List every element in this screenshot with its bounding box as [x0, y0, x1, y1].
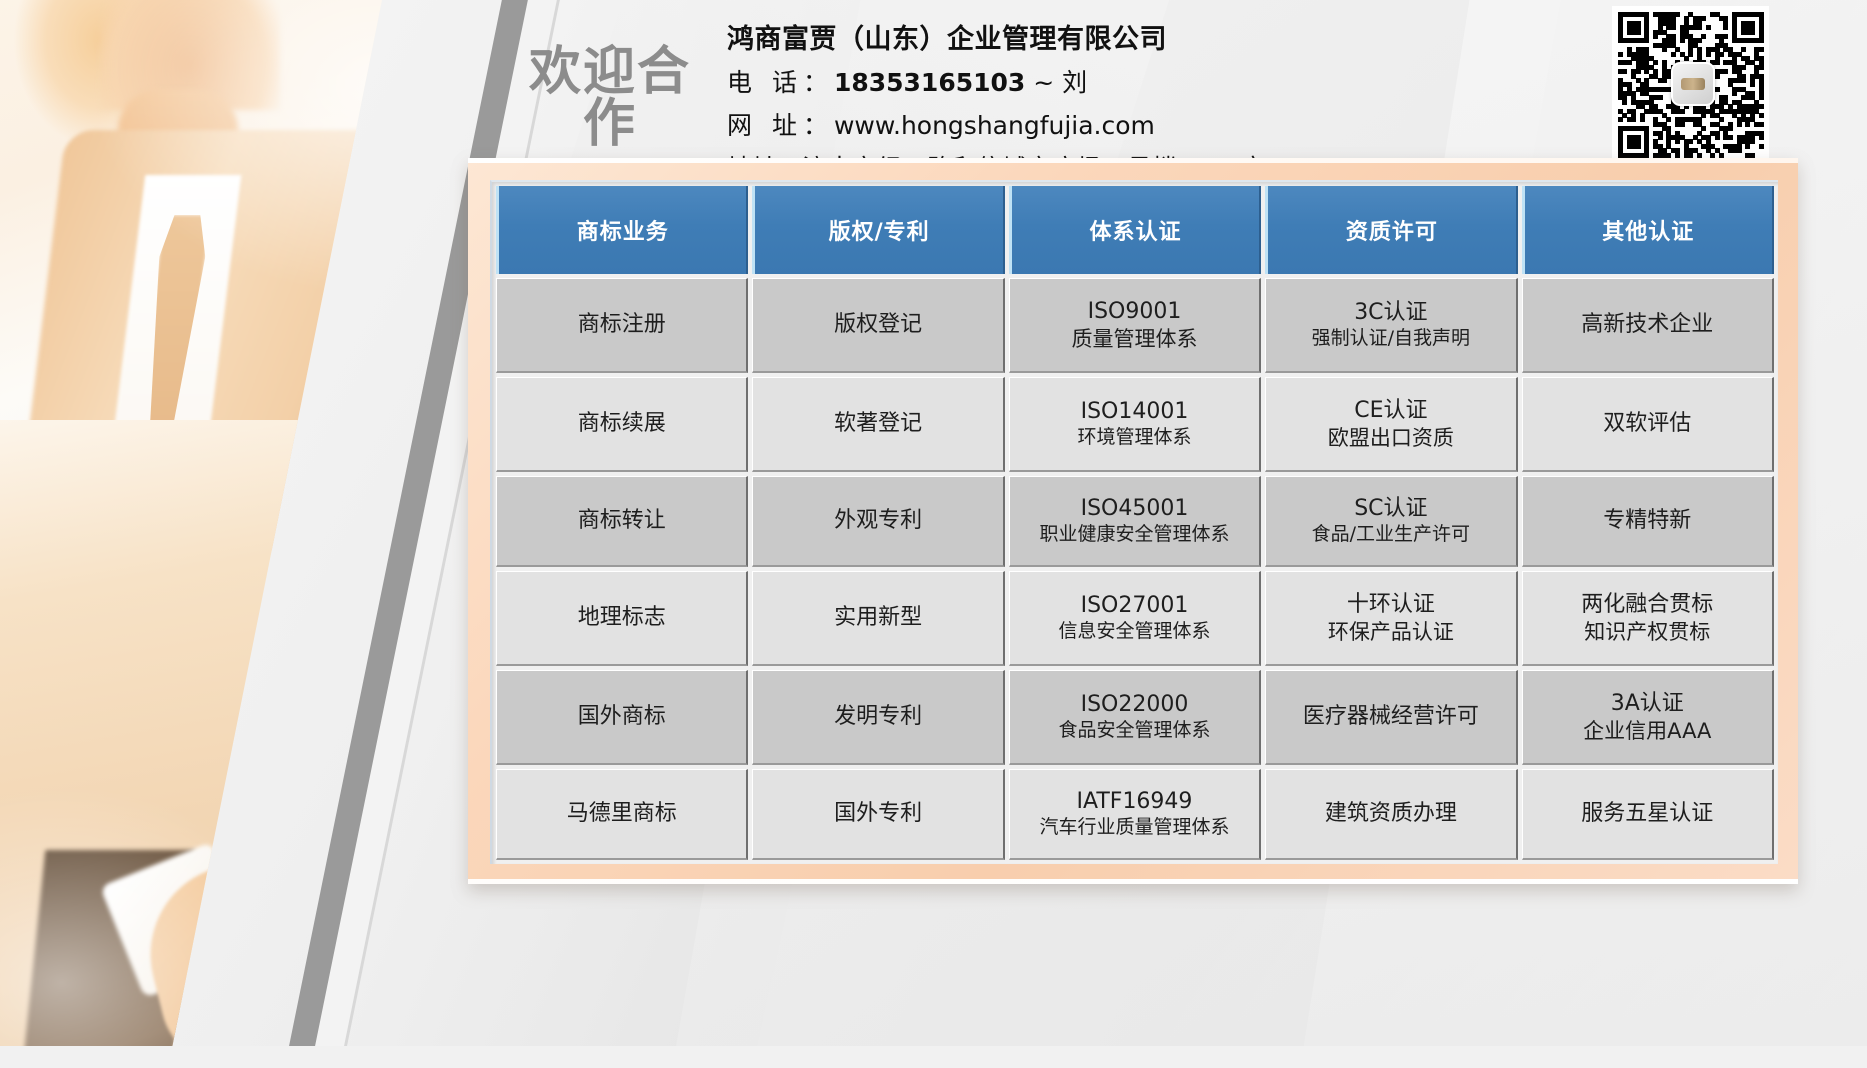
- cell-title: ISO14001: [1081, 399, 1189, 424]
- cell-title: 建筑资质办理: [1325, 801, 1457, 826]
- cell-subtitle: 知识产权贯标: [1524, 619, 1771, 645]
- services-table: 商标业务 版权/专利 体系认证 资质许可 其他认证 商标注册版权登记ISO900…: [492, 182, 1778, 864]
- cell-title: 医疗器械经营许可: [1303, 704, 1479, 729]
- cell-title: 商标续展: [578, 411, 666, 436]
- services-table-frame: 商标业务 版权/专利 体系认证 资质许可 其他认证 商标注册版权登记ISO900…: [468, 158, 1798, 884]
- cell-title: 外观专利: [834, 508, 922, 533]
- cell-title: 3C认证: [1354, 300, 1427, 325]
- cell-subtitle: 企业信用AAA: [1524, 718, 1771, 744]
- cell-copyright-3: 外观专利: [752, 476, 1004, 567]
- cell-title: 发明专利: [834, 704, 922, 729]
- column-header-qualification-license: 资质许可: [1265, 186, 1517, 274]
- cell-title: 商标注册: [578, 312, 666, 337]
- cell-trademark-2: 商标续展: [496, 377, 748, 472]
- cell-other-5: 3A认证企业信用AAA: [1522, 670, 1774, 765]
- cell-qualification-5: 医疗器械经营许可: [1265, 670, 1517, 765]
- cell-title: 双软评估: [1603, 411, 1691, 436]
- website-label: 网 址：: [727, 111, 834, 140]
- table-row: 马德里商标国外专利IATF16949汽车行业质量管理体系建筑资质办理服务五星认证: [496, 769, 1774, 860]
- cell-system-2: ISO14001环境管理体系: [1009, 377, 1261, 472]
- table-row: 商标转让外观专利ISO45001职业健康安全管理体系SC认证食品/工业生产许可专…: [496, 476, 1774, 567]
- phone-line: 电 话：18353165103 ~ 刘: [727, 63, 1266, 99]
- cell-qualification-6: 建筑资质办理: [1265, 769, 1517, 860]
- cell-trademark-1: 商标注册: [496, 278, 748, 373]
- column-header-other-certification: 其他认证: [1522, 186, 1774, 274]
- phone-label: 电 话：: [727, 68, 834, 97]
- cell-title: IATF16949: [1077, 789, 1193, 814]
- cell-copyright-2: 软著登记: [752, 377, 1004, 472]
- cell-other-3: 专精特新: [1522, 476, 1774, 567]
- cell-title: 专精特新: [1603, 508, 1691, 533]
- cell-other-4: 两化融合贯标知识产权贯标: [1522, 571, 1774, 666]
- cell-title: ISO22000: [1081, 692, 1189, 717]
- column-header-copyright-patent: 版权/专利: [752, 186, 1004, 274]
- company-name: 鸿商富贾（山东）企业管理有限公司: [727, 24, 1266, 56]
- cell-title: ISO27001: [1081, 593, 1189, 618]
- cell-title: 高新技术企业: [1581, 312, 1713, 337]
- cell-copyright-1: 版权登记: [752, 278, 1004, 373]
- website-url[interactable]: www.hongshangfujia.com: [834, 111, 1155, 140]
- column-header-trademark: 商标业务: [496, 186, 748, 274]
- cell-subtitle: 食品安全管理体系: [1011, 719, 1258, 743]
- cell-title: 十环认证: [1347, 592, 1435, 617]
- poster-canvas: 欢迎合作 Welcome to cooperate! 鸿商富贾（山东）企业管理有…: [0, 0, 1867, 1068]
- cell-title: 地理标志: [578, 605, 666, 630]
- services-table-inner: 商标业务 版权/专利 体系认证 资质许可 其他认证 商标注册版权登记ISO900…: [490, 180, 1778, 864]
- cell-other-1: 高新技术企业: [1522, 278, 1774, 373]
- cell-trademark-4: 地理标志: [496, 571, 748, 666]
- cell-system-1: ISO9001质量管理体系: [1009, 278, 1261, 373]
- cell-other-6: 服务五星认证: [1522, 769, 1774, 860]
- cell-system-4: ISO27001信息安全管理体系: [1009, 571, 1261, 666]
- cell-other-2: 双软评估: [1522, 377, 1774, 472]
- table-body: 商标注册版权登记ISO9001质量管理体系3C认证强制认证/自我声明高新技术企业…: [496, 278, 1774, 860]
- cell-title: CE认证: [1354, 398, 1427, 423]
- cell-title: 软著登记: [834, 411, 922, 436]
- cell-qualification-2: CE认证欧盟出口资质: [1265, 377, 1517, 472]
- table-row: 地理标志实用新型ISO27001信息安全管理体系十环认证环保产品认证两化融合贯标…: [496, 571, 1774, 666]
- cell-title: ISO9001: [1088, 299, 1182, 324]
- table-row: 商标注册版权登记ISO9001质量管理体系3C认证强制认证/自我声明高新技术企业: [496, 278, 1774, 373]
- cell-subtitle: 信息安全管理体系: [1011, 620, 1258, 644]
- cell-qualification-1: 3C认证强制认证/自我声明: [1265, 278, 1517, 373]
- cell-trademark-6: 马德里商标: [496, 769, 748, 860]
- cell-qualification-4: 十环认证环保产品认证: [1265, 571, 1517, 666]
- cell-subtitle: 职业健康安全管理体系: [1011, 523, 1258, 547]
- cell-subtitle: 食品/工业生产许可: [1267, 523, 1514, 547]
- cell-subtitle: 强制认证/自我声明: [1267, 327, 1514, 351]
- cell-system-3: ISO45001职业健康安全管理体系: [1009, 476, 1261, 567]
- column-header-system-certification: 体系认证: [1009, 186, 1261, 274]
- table-row: 国外商标发明专利ISO22000食品安全管理体系医疗器械经营许可3A认证企业信用…: [496, 670, 1774, 765]
- cell-title: 马德里商标: [567, 801, 677, 826]
- cell-subtitle: 欧盟出口资质: [1267, 425, 1514, 451]
- phone-contact-person: ~ 刘: [1025, 68, 1087, 97]
- cell-title: SC认证: [1354, 496, 1427, 521]
- website-line: 网 址：www.hongshangfujia.com: [727, 106, 1266, 142]
- cell-subtitle: 环境管理体系: [1011, 426, 1258, 450]
- cell-title: 3A认证: [1611, 691, 1684, 716]
- cell-trademark-5: 国外商标: [496, 670, 748, 765]
- phone-number: 18353165103: [834, 68, 1025, 97]
- cell-title: ISO45001: [1081, 496, 1189, 521]
- bottom-strip: [0, 1046, 1867, 1068]
- cell-trademark-3: 商标转让: [496, 476, 748, 567]
- headline-chinese: 欢迎合作: [505, 46, 715, 150]
- cell-copyright-5: 发明专利: [752, 670, 1004, 765]
- cell-system-6: IATF16949汽车行业质量管理体系: [1009, 769, 1261, 860]
- cell-title: 服务五星认证: [1581, 801, 1713, 826]
- cell-title: 国外商标: [578, 704, 666, 729]
- table-row: 商标续展软著登记ISO14001环境管理体系CE认证欧盟出口资质双软评估: [496, 377, 1774, 472]
- cell-title: 国外专利: [834, 801, 922, 826]
- cell-subtitle: 环保产品认证: [1267, 619, 1514, 645]
- cell-subtitle: 汽车行业质量管理体系: [1011, 816, 1258, 840]
- cell-title: 实用新型: [834, 605, 922, 630]
- cell-title: 商标转让: [578, 508, 666, 533]
- cell-copyright-6: 国外专利: [752, 769, 1004, 860]
- cell-title: 版权登记: [834, 312, 922, 337]
- cell-copyright-4: 实用新型: [752, 571, 1004, 666]
- cell-subtitle: 质量管理体系: [1011, 326, 1258, 352]
- cell-system-5: ISO22000食品安全管理体系: [1009, 670, 1261, 765]
- table-header-row: 商标业务 版权/专利 体系认证 资质许可 其他认证: [496, 186, 1774, 274]
- cell-qualification-3: SC认证食品/工业生产许可: [1265, 476, 1517, 567]
- cell-title: 两化融合贯标: [1581, 592, 1713, 617]
- qr-center-avatar-icon: [1671, 62, 1715, 106]
- table-head: 商标业务 版权/专利 体系认证 资质许可 其他认证: [496, 186, 1774, 274]
- wechat-qr-code[interactable]: [1612, 6, 1769, 158]
